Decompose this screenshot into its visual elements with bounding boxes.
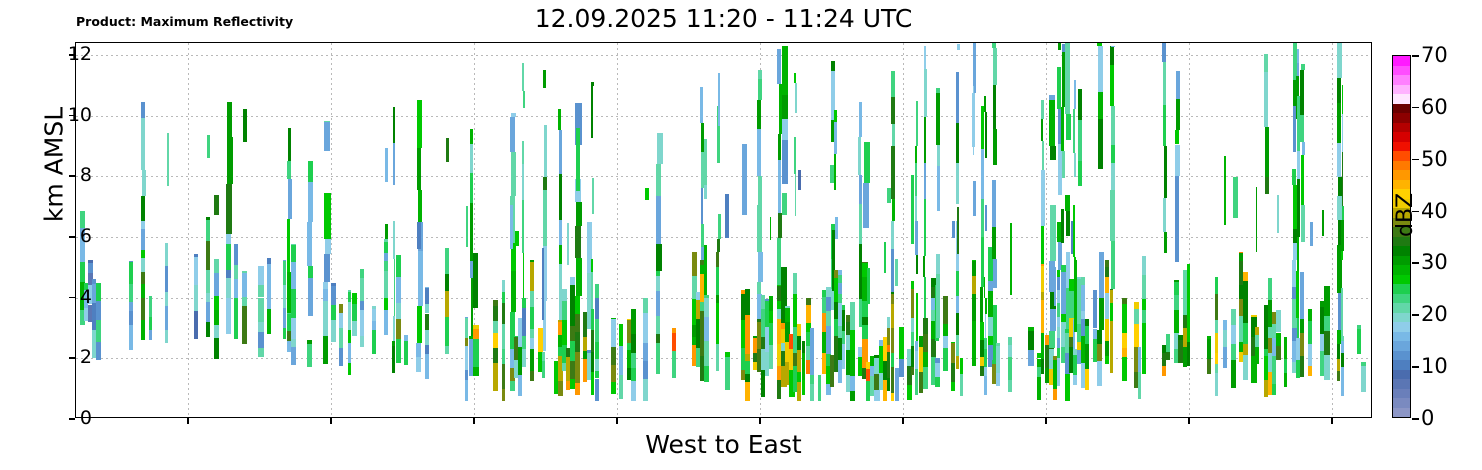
reflectivity-cell <box>1028 350 1033 367</box>
reflectivity-cell <box>916 128 918 146</box>
reflectivity-cell <box>1166 352 1170 360</box>
reflectivity-cell <box>1308 344 1312 366</box>
reflectivity-cell <box>562 289 566 301</box>
reflectivity-cell <box>891 353 894 368</box>
reflectivity-cell <box>716 344 719 371</box>
reflectivity-cell <box>591 82 593 85</box>
reflectivity-cell <box>206 293 210 302</box>
y-tick-mark <box>69 236 75 238</box>
reflectivity-cell <box>1061 314 1066 322</box>
reflectivity-cell <box>802 341 806 354</box>
reflectivity-cell <box>1111 106 1115 145</box>
reflectivity-cell <box>1134 302 1139 309</box>
reflectivity-cell <box>258 348 263 357</box>
reflectivity-cell <box>704 298 709 317</box>
reflectivity-cell <box>1215 294 1218 320</box>
reflectivity-cell <box>141 272 145 285</box>
reflectivity-cell <box>394 259 396 316</box>
reflectivity-cell <box>862 325 867 340</box>
reflectivity-cell <box>797 324 800 336</box>
reflectivity-cell <box>785 308 790 322</box>
reflectivity-cell <box>465 338 468 346</box>
reflectivity-cell <box>992 180 996 226</box>
reflectivity-cell <box>1041 170 1044 227</box>
reflectivity-cell <box>80 262 85 282</box>
reflectivity-cell <box>1187 301 1191 327</box>
reflectivity-cell <box>769 323 773 345</box>
reflectivity-cell <box>643 298 648 304</box>
reflectivity-cell <box>1050 146 1056 160</box>
reflectivity-cell <box>1243 344 1248 355</box>
reflectivity-cell <box>234 244 238 266</box>
reflectivity-cell <box>1297 151 1299 179</box>
reflectivity-cell <box>887 188 891 204</box>
reflectivity-cell <box>465 318 468 338</box>
reflectivity-cell <box>657 133 663 164</box>
y-tick-mark <box>69 418 75 420</box>
reflectivity-cell <box>226 234 231 244</box>
reflectivity-cell <box>1223 330 1227 347</box>
reflectivity-cell <box>842 310 845 331</box>
reflectivity-cell <box>1062 52 1065 107</box>
reflectivity-cell <box>770 217 772 240</box>
reflectivity-cell <box>1341 220 1344 251</box>
reflectivity-cell <box>1174 295 1178 311</box>
reflectivity-cell <box>558 381 562 396</box>
reflectivity-cell <box>1243 323 1248 344</box>
reflectivity-cell <box>445 291 449 317</box>
reflectivity-cell <box>891 221 894 249</box>
reflectivity-cell <box>385 148 388 182</box>
reflectivity-cell <box>1110 348 1114 373</box>
reflectivity-cell <box>291 318 296 327</box>
reflectivity-cell <box>988 317 993 336</box>
reflectivity-cell <box>470 203 473 260</box>
reflectivity-cell <box>793 353 797 366</box>
reflectivity-cell <box>1357 329 1362 354</box>
reflectivity-cell <box>1110 46 1114 65</box>
reflectivity-cell <box>542 361 545 378</box>
reflectivity-cell <box>984 338 987 349</box>
reflectivity-cell <box>1098 119 1103 169</box>
reflectivity-cell <box>1008 337 1011 344</box>
reflectivity-cell <box>242 273 247 298</box>
reflectivity-cell <box>745 331 750 354</box>
reflectivity-cell <box>1028 327 1033 331</box>
reflectivity-cell <box>936 93 939 145</box>
reflectivity-cell <box>1110 289 1114 303</box>
reflectivity-cell <box>785 306 790 308</box>
reflectivity-cell <box>782 119 787 140</box>
reflectivity-cell <box>795 174 797 216</box>
reflectivity-cell <box>591 272 593 309</box>
reflectivity-cell <box>972 321 976 332</box>
reflectivity-cell <box>758 79 762 100</box>
reflectivity-cell <box>1255 327 1259 335</box>
reflectivity-cell <box>794 73 796 82</box>
reflectivity-cell <box>1277 195 1279 233</box>
reflectivity-cell <box>393 143 395 185</box>
reflectivity-cell <box>972 276 976 294</box>
reflectivity-cell <box>558 109 561 130</box>
reflectivity-cell <box>1337 43 1341 78</box>
reflectivity-cell <box>1093 339 1096 361</box>
colorbar-tick-label: 10 <box>1421 354 1448 378</box>
reflectivity-cell <box>858 357 861 376</box>
reflectivity-cell <box>1142 310 1146 323</box>
reflectivity-cell <box>214 273 219 296</box>
reflectivity-cell <box>643 343 648 361</box>
reflectivity-cell <box>996 343 1000 346</box>
reflectivity-cell <box>595 371 599 379</box>
reflectivity-cell <box>258 298 263 322</box>
reflectivity-cell <box>701 247 704 260</box>
colorbar-tick-mark <box>1412 107 1419 109</box>
colorbar-segment <box>1393 293 1410 303</box>
reflectivity-cell <box>956 313 959 335</box>
reflectivity-cell <box>502 324 505 349</box>
colorbar-segment <box>1393 274 1410 284</box>
colorbar-segment <box>1393 264 1410 274</box>
reflectivity-cell <box>1223 320 1227 330</box>
reflectivity-cell <box>619 375 623 399</box>
reflectivity-cell <box>417 306 422 343</box>
reflectivity-cell <box>194 285 198 311</box>
reflectivity-cell <box>1272 384 1276 396</box>
reflectivity-cell <box>522 200 524 253</box>
reflectivity-cell <box>206 302 210 322</box>
reflectivity-cell <box>1163 62 1167 105</box>
reflectivity-cell <box>892 199 895 221</box>
reflectivity-cell <box>1342 85 1344 114</box>
reflectivity-cell <box>1256 187 1257 252</box>
reflectivity-cell <box>1337 143 1341 177</box>
reflectivity-cell <box>267 258 272 264</box>
reflectivity-cell <box>891 71 894 97</box>
reflectivity-cell <box>511 113 516 117</box>
reflectivity-cell <box>1162 353 1165 366</box>
reflectivity-cell <box>465 380 468 401</box>
reflectivity-cell <box>631 368 636 380</box>
reflectivity-cell <box>795 83 797 113</box>
reflectivity-cell <box>1302 142 1306 155</box>
reflectivity-cell <box>645 188 649 201</box>
reflectivity-cell <box>206 241 210 270</box>
reflectivity-cell <box>973 86 975 155</box>
reflectivity-cell <box>141 102 145 117</box>
reflectivity-cell <box>1300 115 1304 142</box>
reflectivity-cell <box>631 309 636 334</box>
reflectivity-cell <box>1296 271 1298 317</box>
reflectivity-cell <box>842 305 845 310</box>
reflectivity-cell <box>530 338 534 349</box>
reflectivity-cell <box>993 48 997 85</box>
reflectivity-cell <box>502 303 505 324</box>
reflectivity-cell <box>931 339 936 356</box>
reflectivity-cell <box>996 373 1000 387</box>
colorbar-tick-mark <box>1412 366 1419 368</box>
reflectivity-cell <box>943 336 948 348</box>
reflectivity-cell <box>96 283 101 301</box>
reflectivity-cell <box>1264 54 1268 71</box>
colorbar-label: dBZ <box>1393 117 1418 237</box>
reflectivity-cell <box>899 359 904 378</box>
reflectivity-cell <box>1243 305 1248 323</box>
reflectivity-cell <box>1297 96 1299 152</box>
colorbar-segment <box>1393 302 1410 312</box>
reflectivity-cell <box>165 306 168 330</box>
reflectivity-cell <box>725 352 730 357</box>
reflectivity-cell <box>543 190 546 247</box>
reflectivity-cell <box>595 379 599 401</box>
reflectivity-cell <box>141 298 145 320</box>
reflectivity-cell <box>643 304 648 313</box>
reflectivity-cell <box>473 329 478 339</box>
reflectivity-cell <box>656 271 661 277</box>
reflectivity-cell <box>916 293 918 340</box>
reflectivity-cell <box>1174 280 1178 282</box>
reflectivity-cell <box>470 129 473 144</box>
reflectivity-cell <box>194 328 198 339</box>
reflectivity-cell <box>396 319 401 340</box>
reflectivity-cell <box>838 372 842 383</box>
reflectivity-cell <box>591 86 593 139</box>
reflectivity-cell <box>206 322 210 337</box>
reflectivity-cell <box>899 327 904 333</box>
reflectivity-cell <box>1357 325 1362 329</box>
reflectivity-cell <box>522 164 524 200</box>
y-tick-mark <box>69 175 75 177</box>
reflectivity-cell <box>611 365 616 382</box>
reflectivity-cell <box>308 266 313 279</box>
reflectivity-cell <box>384 261 388 270</box>
reflectivity-cell <box>530 260 534 262</box>
reflectivity-cell <box>1162 43 1166 62</box>
reflectivity-cell <box>258 285 263 298</box>
reflectivity-cell <box>704 366 709 382</box>
reflectivity-cell <box>141 250 145 258</box>
reflectivity-cell <box>1215 364 1218 373</box>
reflectivity-cell <box>562 301 566 319</box>
reflectivity-cell <box>758 252 762 282</box>
reflectivity-cell <box>1057 67 1060 109</box>
reflectivity-cell <box>242 271 247 272</box>
reflectivity-cell <box>907 385 912 400</box>
reflectivity-cell <box>214 296 219 310</box>
reflectivity-cell <box>704 317 709 340</box>
reflectivity-cell <box>892 124 895 145</box>
reflectivity-cell <box>704 341 709 366</box>
reflectivity-cell <box>393 107 395 143</box>
reflectivity-cell <box>923 256 925 277</box>
colorbar-segment <box>1393 378 1410 388</box>
reflectivity-cell <box>242 333 247 344</box>
x-axis-label: West to East <box>75 430 1372 459</box>
reflectivity-cell <box>542 352 545 362</box>
reflectivity-cell <box>806 298 811 304</box>
reflectivity-cell <box>510 117 515 152</box>
reflectivity-cell <box>287 161 291 180</box>
reflectivity-cell <box>149 330 152 339</box>
reflectivity-cell <box>129 284 133 302</box>
reflectivity-cell <box>806 305 811 323</box>
reflectivity-cell <box>544 125 547 177</box>
reflectivity-cell <box>242 297 247 306</box>
reflectivity-cell <box>862 262 867 263</box>
reflectivity-cell <box>129 261 133 283</box>
reflectivity-cell <box>924 69 926 117</box>
reflectivity-cell <box>981 149 984 199</box>
reflectivity-cell <box>1341 336 1344 341</box>
reflectivity-cell <box>1324 355 1329 380</box>
reflectivity-cell <box>425 287 429 288</box>
reflectivity-cell <box>834 110 837 122</box>
reflectivity-cell <box>891 97 894 124</box>
reflectivity-cell <box>288 128 292 160</box>
reflectivity-cell <box>915 221 918 255</box>
reflectivity-cell <box>1207 339 1211 359</box>
reflectivity-cell <box>473 253 478 308</box>
reflectivity-cell <box>1085 326 1089 345</box>
colorbar-segment <box>1393 340 1410 350</box>
reflectivity-cell <box>214 195 219 216</box>
reflectivity-cell <box>911 346 914 366</box>
colorbar-tick-label: 20 <box>1421 302 1448 326</box>
reflectivity-cell <box>493 333 498 348</box>
reflectivity-cell <box>701 224 704 247</box>
reflectivity-cell <box>522 336 526 350</box>
reflectivity-cell <box>360 301 364 310</box>
reflectivity-cell <box>502 349 505 364</box>
reflectivity-cell <box>984 376 987 395</box>
reflectivity-cell <box>988 336 993 346</box>
reflectivity-cell <box>234 298 238 320</box>
reflectivity-cell <box>915 163 917 196</box>
reflectivity-cell <box>141 229 145 250</box>
reflectivity-cell <box>1010 223 1012 295</box>
reflectivity-cell <box>214 259 219 273</box>
reflectivity-cell <box>129 311 133 325</box>
reflectivity-cell <box>393 316 395 341</box>
reflectivity-cell <box>810 384 815 401</box>
reflectivity-cell <box>866 369 869 380</box>
reflectivity-cell <box>1041 300 1044 319</box>
reflectivity-cell <box>1187 278 1191 301</box>
reflectivity-cell <box>1081 311 1085 319</box>
reflectivity-cell <box>141 320 145 340</box>
reflectivity-cell <box>1073 109 1075 153</box>
reflectivity-cell <box>1074 80 1076 109</box>
reflectivity-cell <box>570 277 575 285</box>
reflectivity-cell <box>923 318 928 334</box>
reflectivity-cell <box>1093 290 1096 306</box>
reflectivity-cell <box>339 348 343 365</box>
reflectivity-cell <box>1187 342 1191 366</box>
reflectivity-cell <box>1163 198 1167 232</box>
reflectivity-cell <box>701 188 704 224</box>
reflectivity-cell <box>1215 373 1218 396</box>
reflectivity-cell <box>493 306 498 321</box>
reflectivity-cell <box>425 330 429 345</box>
reflectivity-cell <box>141 284 145 298</box>
reflectivity-cell <box>769 311 773 322</box>
reflectivity-cell <box>842 331 845 344</box>
reflectivity-cell <box>393 221 395 259</box>
reflectivity-cell <box>1098 46 1103 92</box>
reflectivity-cell <box>936 274 939 339</box>
reflectivity-cell <box>1037 377 1042 400</box>
reflectivity-cell <box>864 142 870 182</box>
reflectivity-cell <box>1041 359 1044 375</box>
reflectivity-cell <box>562 320 566 345</box>
reflectivity-cell <box>1041 264 1044 267</box>
reflectivity-cell <box>96 320 101 342</box>
reflectivity-cell <box>1324 331 1329 355</box>
reflectivity-cell <box>802 353 806 379</box>
reflectivity-cell <box>575 372 580 383</box>
reflectivity-cell <box>416 343 420 357</box>
reflectivity-cell <box>141 118 145 170</box>
reflectivity-cell <box>348 292 352 302</box>
reflectivity-cell <box>1065 69 1070 114</box>
reflectivity-cell <box>165 243 168 266</box>
reflectivity-cell <box>465 370 468 379</box>
reflectivity-cell <box>518 375 522 396</box>
reflectivity-cell <box>559 130 562 174</box>
reflectivity-cell <box>1061 107 1064 151</box>
reflectivity-cell <box>392 346 395 373</box>
reflectivity-cell <box>858 137 861 174</box>
colorbar-segment <box>1393 93 1410 103</box>
reflectivity-cell <box>1231 344 1236 360</box>
reflectivity-cell <box>863 183 869 228</box>
reflectivity-cell <box>522 298 526 308</box>
colorbar-segment <box>1393 65 1410 75</box>
reflectivity-cell <box>782 193 787 214</box>
reflectivity-cell <box>291 289 296 318</box>
reflectivity-cell <box>924 199 926 256</box>
x-tick-mark <box>1331 418 1333 424</box>
reflectivity-cell <box>992 227 996 259</box>
reflectivity-cell <box>1085 344 1089 369</box>
reflectivity-cell <box>348 302 352 331</box>
reflectivity-cell <box>716 295 719 304</box>
reflectivity-cell <box>956 163 959 204</box>
reflectivity-cell <box>1187 264 1191 278</box>
reflectivity-cell <box>542 248 544 320</box>
reflectivity-cell <box>1097 344 1102 362</box>
reflectivity-cell <box>782 95 787 119</box>
reflectivity-cell <box>1142 256 1146 275</box>
reflectivity-cell <box>396 303 401 319</box>
reflectivity-cell <box>1310 222 1314 246</box>
reflectivity-cell <box>911 332 914 346</box>
reflectivity-cell <box>1341 288 1343 337</box>
reflectivity-cell <box>1251 315 1256 317</box>
reflectivity-cell <box>226 298 231 313</box>
reflectivity-cell <box>1301 205 1305 242</box>
reflectivity-cell <box>1041 100 1043 119</box>
reflectivity-cell <box>258 266 263 284</box>
reflectivity-cell <box>360 310 364 336</box>
reflectivity-cell <box>1058 43 1061 50</box>
reflectivity-cell <box>307 344 312 367</box>
reflectivity-cell <box>1233 177 1238 217</box>
reflectivity-cell <box>1296 76 1298 96</box>
reflectivity-cell <box>973 181 976 215</box>
reflectivity-cell <box>874 390 879 401</box>
reflectivity-cell <box>307 340 312 344</box>
